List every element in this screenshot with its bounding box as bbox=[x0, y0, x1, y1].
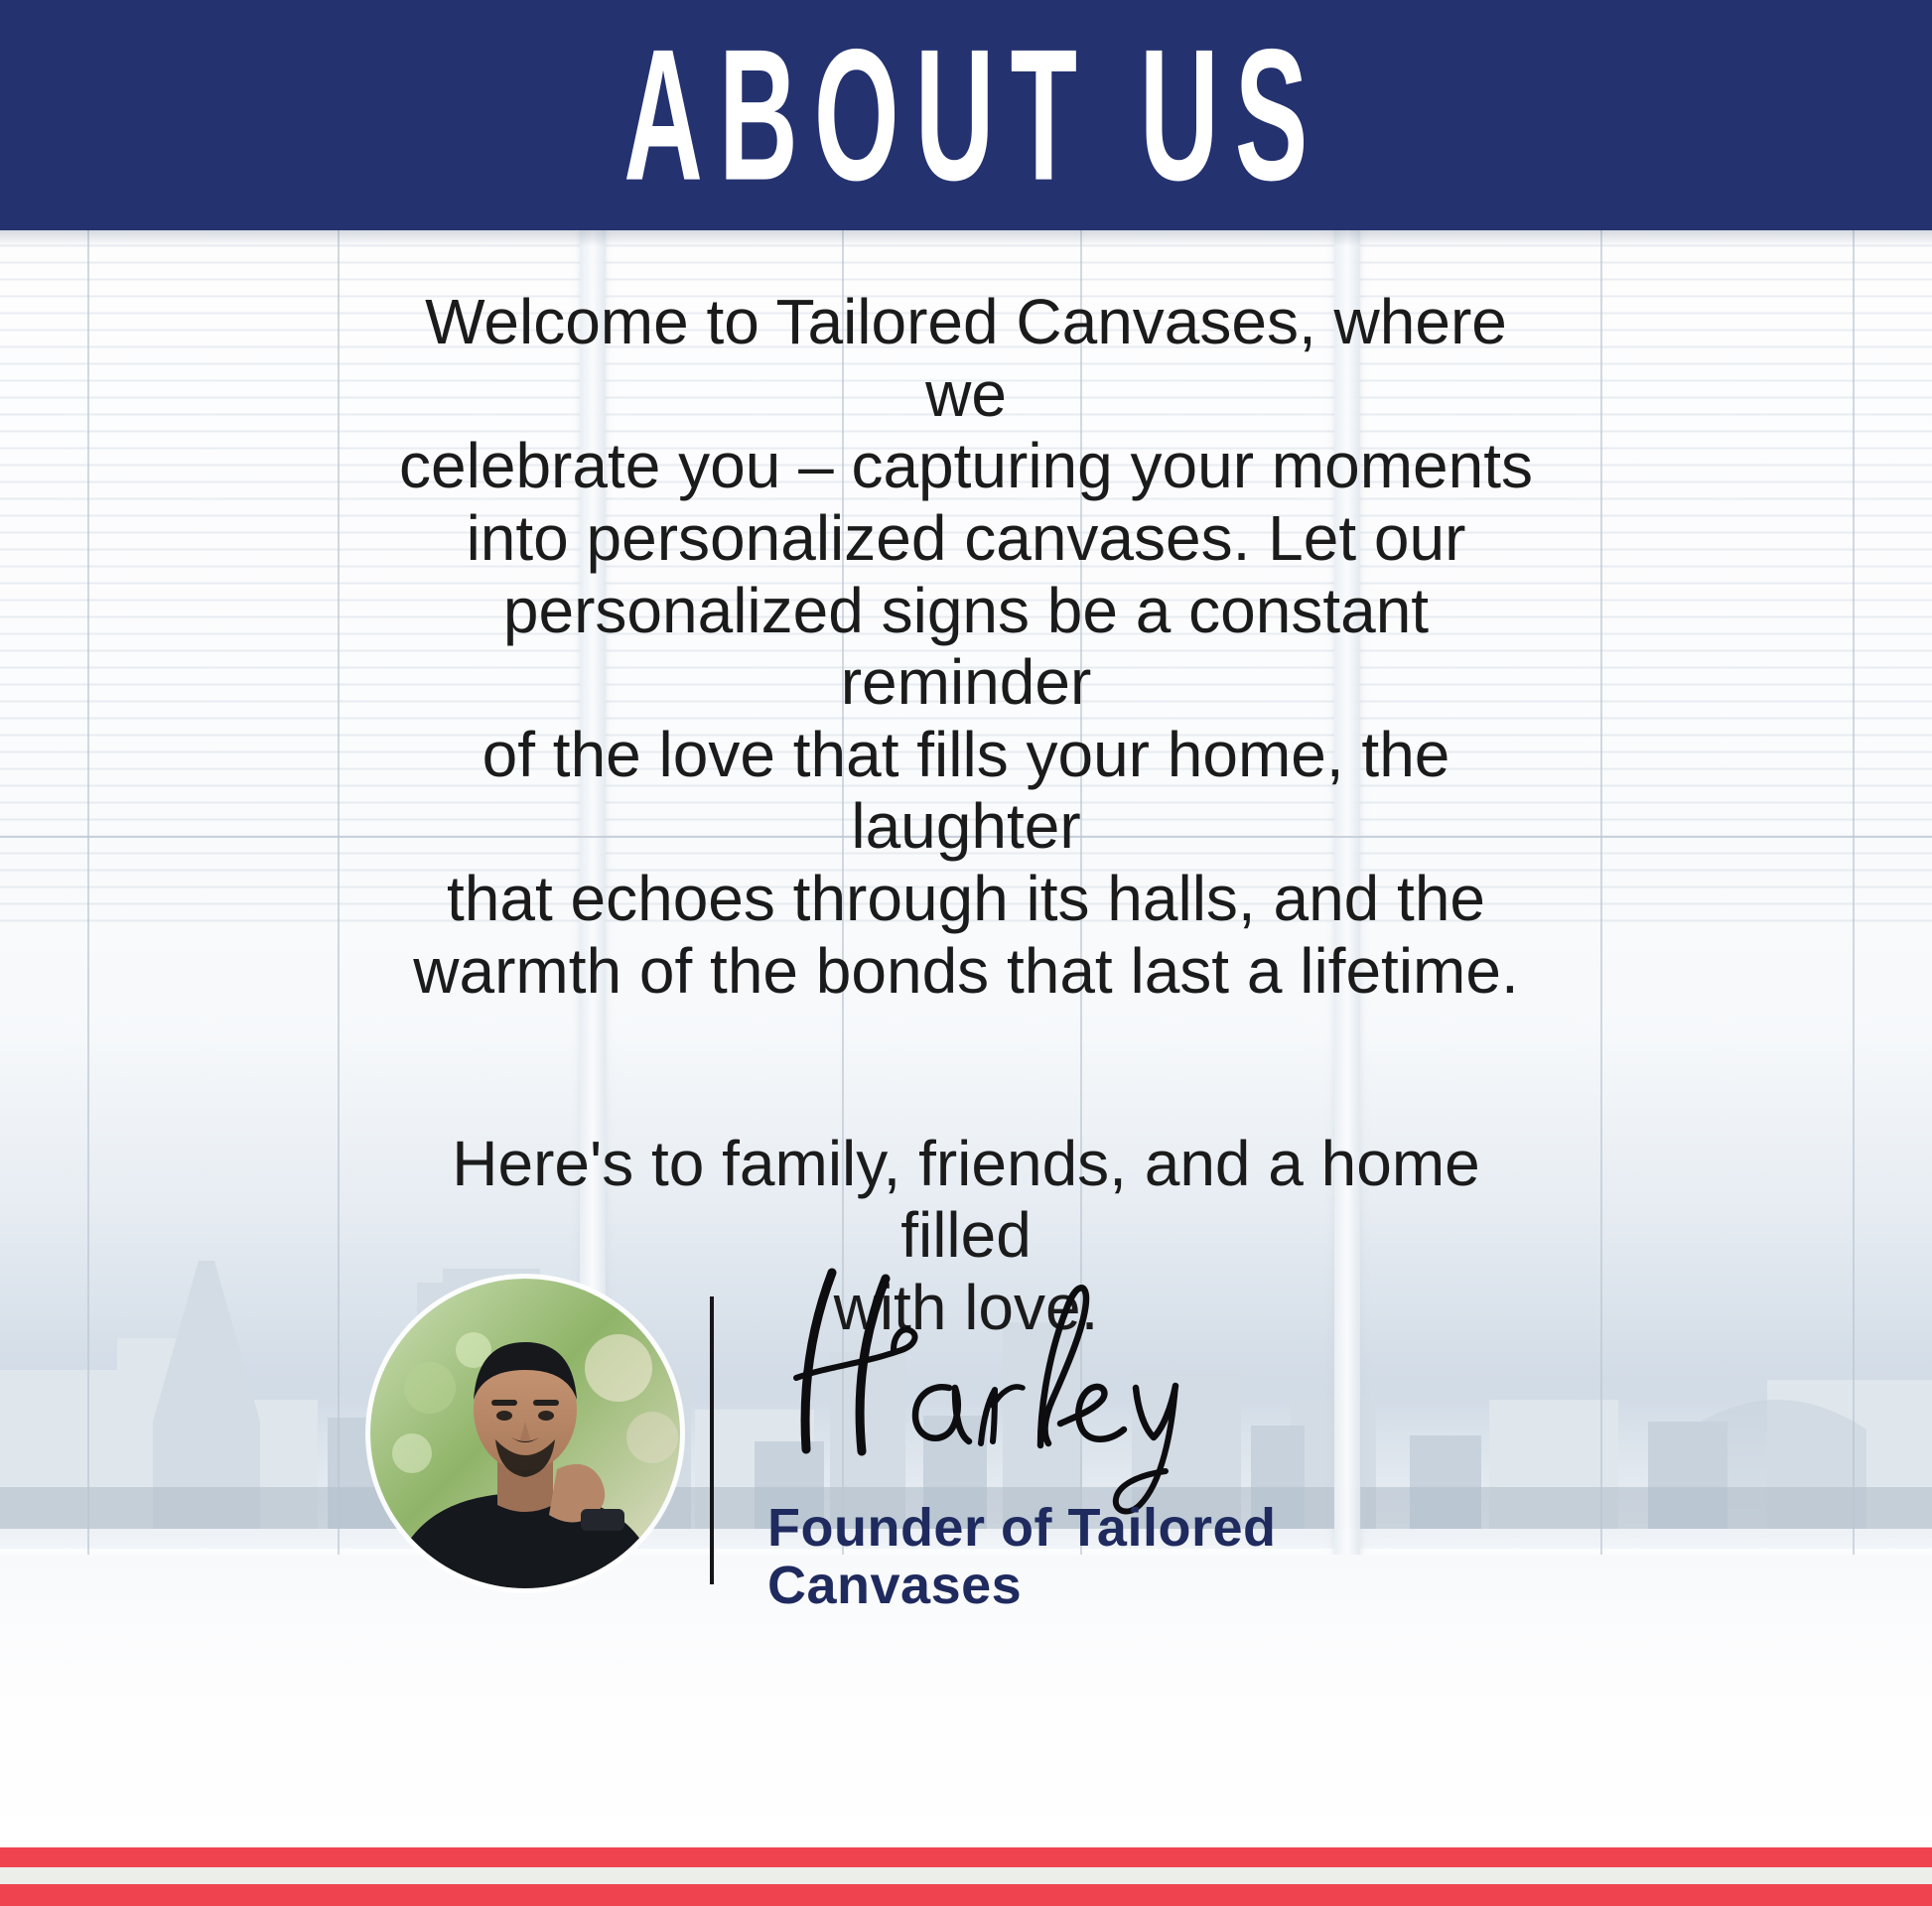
founder-title: Founder of Tailored Canvases bbox=[767, 1499, 1276, 1615]
copy-line: celebrate you – capturing your moments bbox=[380, 430, 1552, 502]
page-title: ABOUT US bbox=[608, 22, 1323, 209]
copy-line: into personalized canvases. Let our bbox=[380, 502, 1552, 575]
about-us-page: ABOUT US Welcome to Tailored Canvases, w… bbox=[0, 0, 1932, 1906]
signature-block: Founder of Tailored Canvases bbox=[352, 1132, 1544, 1608]
footer-bar-bottom bbox=[0, 1884, 1932, 1906]
copy-line: Welcome to Tailored Canvases, where we bbox=[380, 286, 1552, 430]
copy-line: personalized signs be a constant reminde… bbox=[380, 575, 1552, 719]
window-mullion bbox=[1853, 230, 1855, 1561]
window-mullion bbox=[1600, 230, 1602, 1561]
header-bar: ABOUT US bbox=[0, 0, 1932, 230]
window-mullion bbox=[338, 230, 340, 1561]
header-drop-shadow bbox=[0, 230, 1932, 246]
footer-bar-gap bbox=[0, 1867, 1932, 1884]
copy-line: warmth of the bonds that last a lifetime… bbox=[380, 935, 1552, 1008]
signature-divider bbox=[710, 1296, 714, 1584]
founder-signature bbox=[745, 1239, 1281, 1517]
copy-line: of the love that fills your home, the la… bbox=[380, 719, 1552, 863]
founder-avatar bbox=[370, 1279, 680, 1588]
window-mullion bbox=[87, 230, 89, 1561]
footer-bar-top bbox=[0, 1847, 1932, 1867]
copy-line: that echoes through its halls, and the bbox=[380, 863, 1552, 935]
paragraph-one: Welcome to Tailored Canvases, where we c… bbox=[380, 286, 1552, 1007]
